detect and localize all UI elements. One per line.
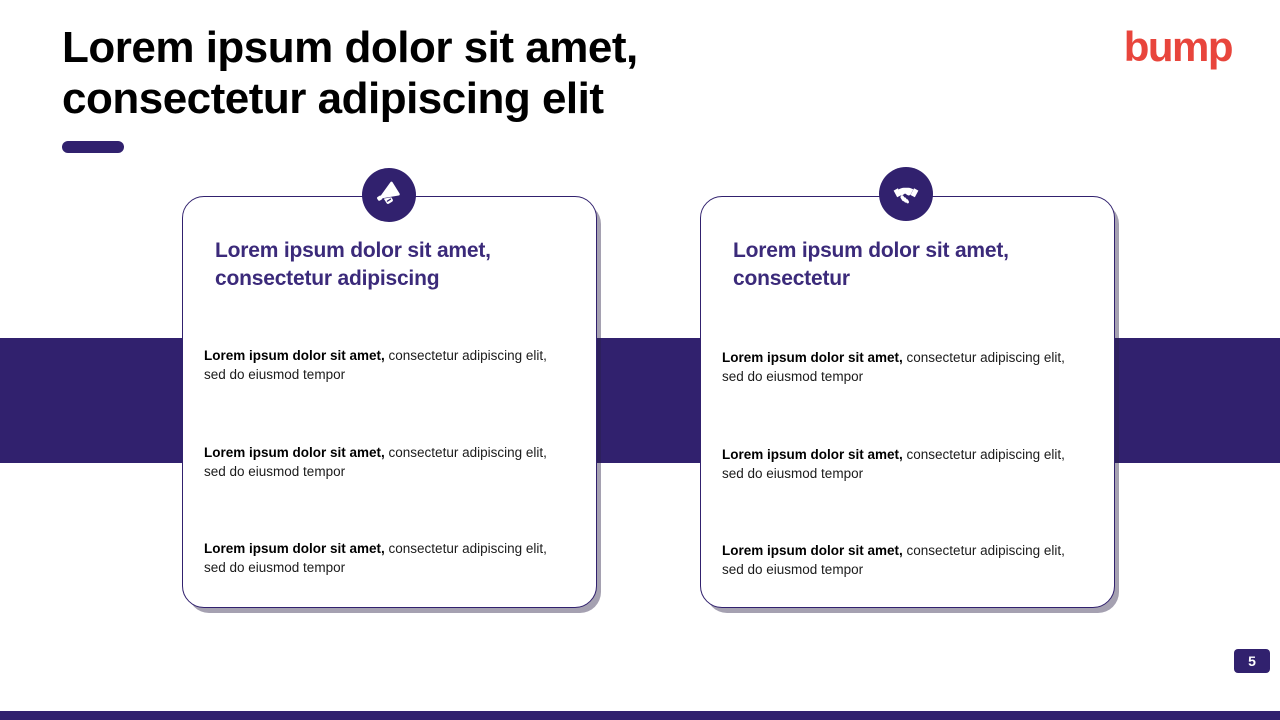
page-title: Lorem ipsum dolor sit amet, consectetur … [62,22,822,124]
handshake-icon-badge [879,167,933,221]
bullet-lead: Lorem ipsum dolor sit amet, [722,350,903,365]
list-item: Lorem ipsum dolor sit amet, consectetur … [722,348,1082,387]
list-item: Lorem ipsum dolor sit amet, consectetur … [722,445,1082,484]
slide: Lorem ipsum dolor sit amet, consectetur … [0,0,1280,720]
bullet-lead: Lorem ipsum dolor sit amet, [722,543,903,558]
bullet-lead: Lorem ipsum dolor sit amet, [204,445,385,460]
list-item: Lorem ipsum dolor sit amet, consectetur … [204,346,564,385]
list-item: Lorem ipsum dolor sit amet, consectetur … [204,443,564,482]
page-number-badge: 5 [1234,649,1270,673]
content-card-right[interactable]: Lorem ipsum dolor sit amet, consectetur … [700,196,1115,608]
bullet-lead: Lorem ipsum dolor sit amet, [722,447,903,462]
bullet-lead: Lorem ipsum dolor sit amet, [204,348,385,363]
brand-logo: bump [1124,26,1232,68]
title-accent-rule [62,141,124,153]
footer-bar [0,711,1280,720]
content-card-left[interactable]: Lorem ipsum dolor sit amet, consectetur … [182,196,597,608]
card-left-heading: Lorem ipsum dolor sit amet, consectetur … [215,237,567,293]
card-right-heading: Lorem ipsum dolor sit amet, consectetur [733,237,1085,293]
card-right-bullet-list: Lorem ipsum dolor sit amet, consectetur … [722,348,1082,580]
card-left-bullet-list: Lorem ipsum dolor sit amet, consectetur … [204,346,564,578]
list-item: Lorem ipsum dolor sit amet, consectetur … [722,541,1082,580]
list-item: Lorem ipsum dolor sit amet, consectetur … [204,539,564,578]
megaphone-icon [374,180,404,210]
handshake-icon [891,179,921,209]
bullet-lead: Lorem ipsum dolor sit amet, [204,541,385,556]
megaphone-icon-badge [362,168,416,222]
